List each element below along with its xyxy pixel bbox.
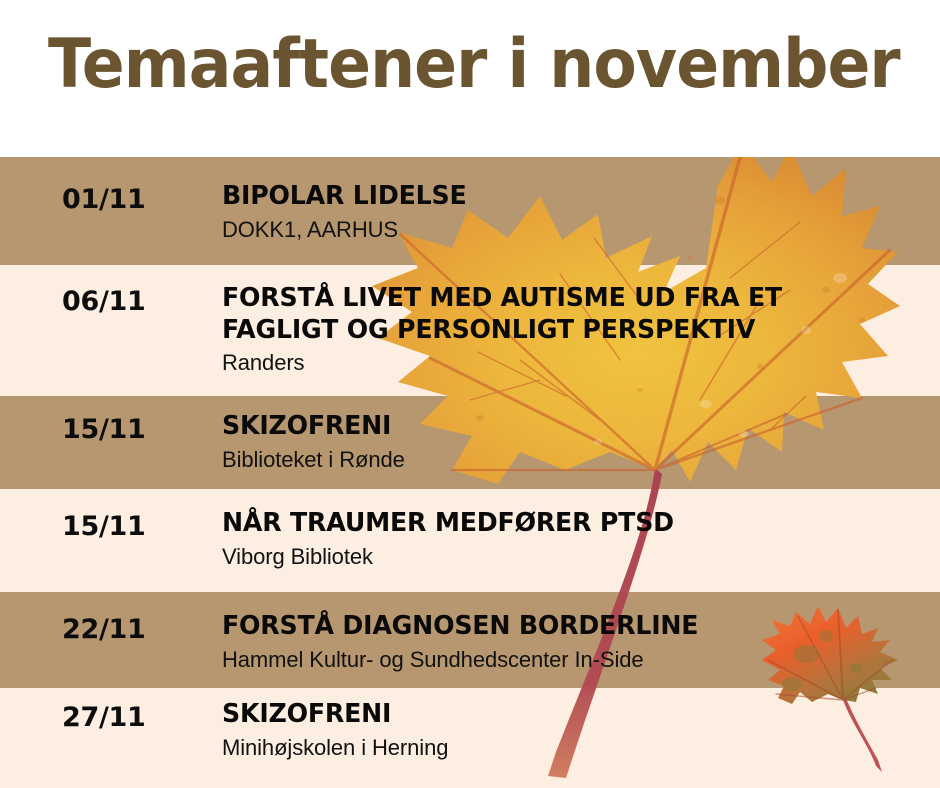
event-body: FORSTÅ DIAGNOSEN BORDERLINEHammel Kultur…	[222, 611, 922, 674]
event-date: 15/11	[62, 511, 146, 542]
page-title: Temaaftener i november	[48, 26, 900, 104]
event-body: FORSTÅ LIVET MED AUTISME UD FRA ET FAGLI…	[222, 283, 922, 378]
event-body: SKIZOFRENIMinihøjskolen i Herning	[222, 699, 922, 762]
event-title: NÅR TRAUMER MEDFØRER PTSD	[222, 508, 901, 540]
event-venue: Biblioteket i Rønde	[222, 446, 922, 475]
event-venue: Hammel Kultur- og Sundhedscenter In-Side	[222, 646, 922, 675]
event-date: 27/11	[62, 702, 146, 733]
event-venue: Randers	[222, 349, 922, 378]
event-body: NÅR TRAUMER MEDFØRER PTSDViborg Bibliote…	[222, 508, 922, 571]
event-title: SKIZOFRENI	[222, 411, 901, 443]
title-area: Temaaftener i november	[0, 0, 940, 157]
event-title: SKIZOFRENI	[222, 699, 901, 731]
event-date: 15/11	[62, 414, 146, 445]
poster-canvas: Temaaftener i november 01/11BIPOLAR LIDE…	[0, 0, 940, 788]
event-title: FORSTÅ LIVET MED AUTISME UD FRA ET FAGLI…	[222, 283, 901, 346]
event-venue: Minihøjskolen i Herning	[222, 734, 922, 763]
event-venue: DOKK1, AARHUS	[222, 216, 922, 245]
event-date: 22/11	[62, 614, 146, 645]
event-venue: Viborg Bibliotek	[222, 543, 922, 572]
event-date: 06/11	[62, 286, 146, 317]
event-title: BIPOLAR LIDELSE	[222, 181, 901, 213]
event-body: SKIZOFRENIBiblioteket i Rønde	[222, 411, 922, 474]
event-title: FORSTÅ DIAGNOSEN BORDERLINE	[222, 611, 901, 643]
event-date: 01/11	[62, 184, 146, 215]
event-body: BIPOLAR LIDELSEDOKK1, AARHUS	[222, 181, 922, 244]
